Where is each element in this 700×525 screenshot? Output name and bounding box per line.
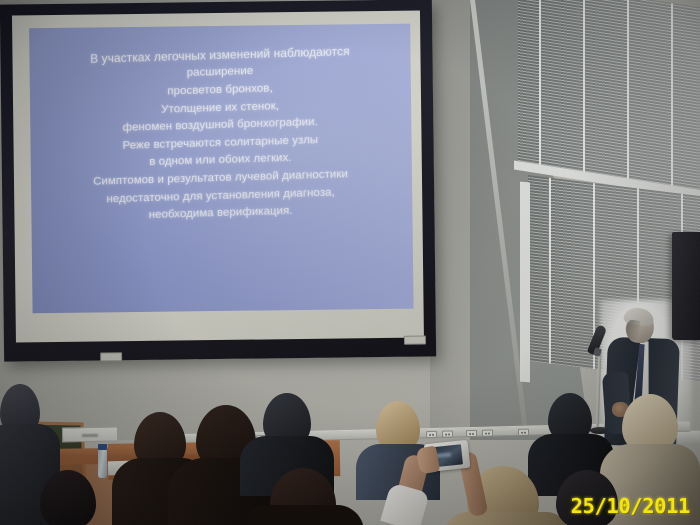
projection-screen: В участках легочных изменений наблюдаютс… xyxy=(0,0,436,362)
hand-holding-camera xyxy=(416,445,440,474)
power-socket xyxy=(482,429,493,436)
camera-date-stamp: 25/10/2011 xyxy=(571,494,690,518)
water-bottle xyxy=(98,448,107,478)
power-socket xyxy=(466,429,477,436)
wall-speaker xyxy=(672,232,700,340)
power-socket xyxy=(518,428,529,435)
wall-sign xyxy=(62,427,118,443)
slide-text-block: В участках легочных изменений наблюдаютс… xyxy=(29,40,411,228)
audience-member xyxy=(444,512,568,525)
projection-screen-surface: В участках легочных изменений наблюдаютс… xyxy=(12,11,424,343)
window-mullion-vertical xyxy=(520,182,530,383)
screen-clip-right xyxy=(404,335,426,344)
water-bottle-cap xyxy=(98,444,107,450)
screen-clip-left xyxy=(100,352,122,361)
projected-slide: В участках легочных изменений наблюдаютс… xyxy=(29,24,413,314)
power-socket xyxy=(426,430,437,437)
audience-member xyxy=(238,505,364,525)
power-socket xyxy=(442,430,453,437)
conference-photograph: В участках легочных изменений наблюдаютс… xyxy=(0,0,700,525)
